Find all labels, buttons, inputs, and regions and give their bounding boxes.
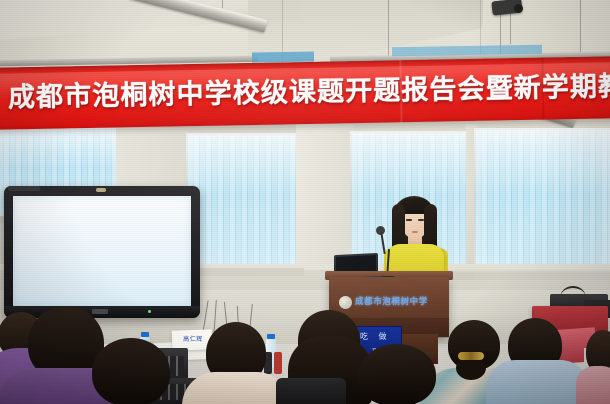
window-glare — [186, 133, 302, 271]
speaker-eye — [406, 219, 412, 221]
audience-body — [486, 360, 590, 404]
blue-sign-line1: 吃 做 — [360, 330, 396, 344]
bottle-cap — [141, 332, 149, 337]
window-sill — [186, 268, 304, 276]
window-sill — [474, 272, 610, 280]
audience-body — [182, 372, 290, 404]
window-glare — [474, 128, 610, 276]
blue-wall-strip — [252, 51, 314, 62]
speaker-mouth — [412, 231, 418, 233]
event-banner: 成都市泡桐树中学校级课题开题报告会暨新学期教师培训会 — [0, 56, 610, 129]
podium-school-name: 成都市泡桐树中学 — [355, 295, 447, 309]
small-bottle — [274, 352, 282, 374]
name-card-text: 高仁辉 — [176, 334, 210, 346]
display-logo — [92, 309, 108, 314]
audience-head — [92, 338, 170, 404]
display-sensor-icon — [96, 188, 106, 192]
school-emblem-icon — [339, 296, 352, 309]
bottle-cap — [267, 334, 275, 339]
conference-photo: 成都市泡桐树中学校级课题开题报告会暨新学期教师培训会 一、导师的认识 导师制是实… — [0, 0, 610, 404]
chair-back — [276, 378, 346, 404]
power-led-icon — [148, 310, 151, 313]
audience-body — [576, 366, 610, 404]
light-suspension-rod — [222, 0, 223, 8]
banner-title-text: 成都市泡桐树中学校级课题开题报告会暨新学期教师培训会 — [8, 60, 609, 125]
display-top-cap — [8, 186, 40, 191]
hair-clip-icon — [458, 352, 484, 360]
audience-head — [358, 344, 436, 404]
slide-screen: 一、导师的认识 导师制是实行走班选课的重要基础，旨在解决取消行政班后，学生心理习… — [13, 196, 191, 306]
light-suspension-rod — [388, 0, 389, 64]
speaker-eye — [418, 219, 424, 221]
projector-lens-icon — [514, 4, 523, 13]
